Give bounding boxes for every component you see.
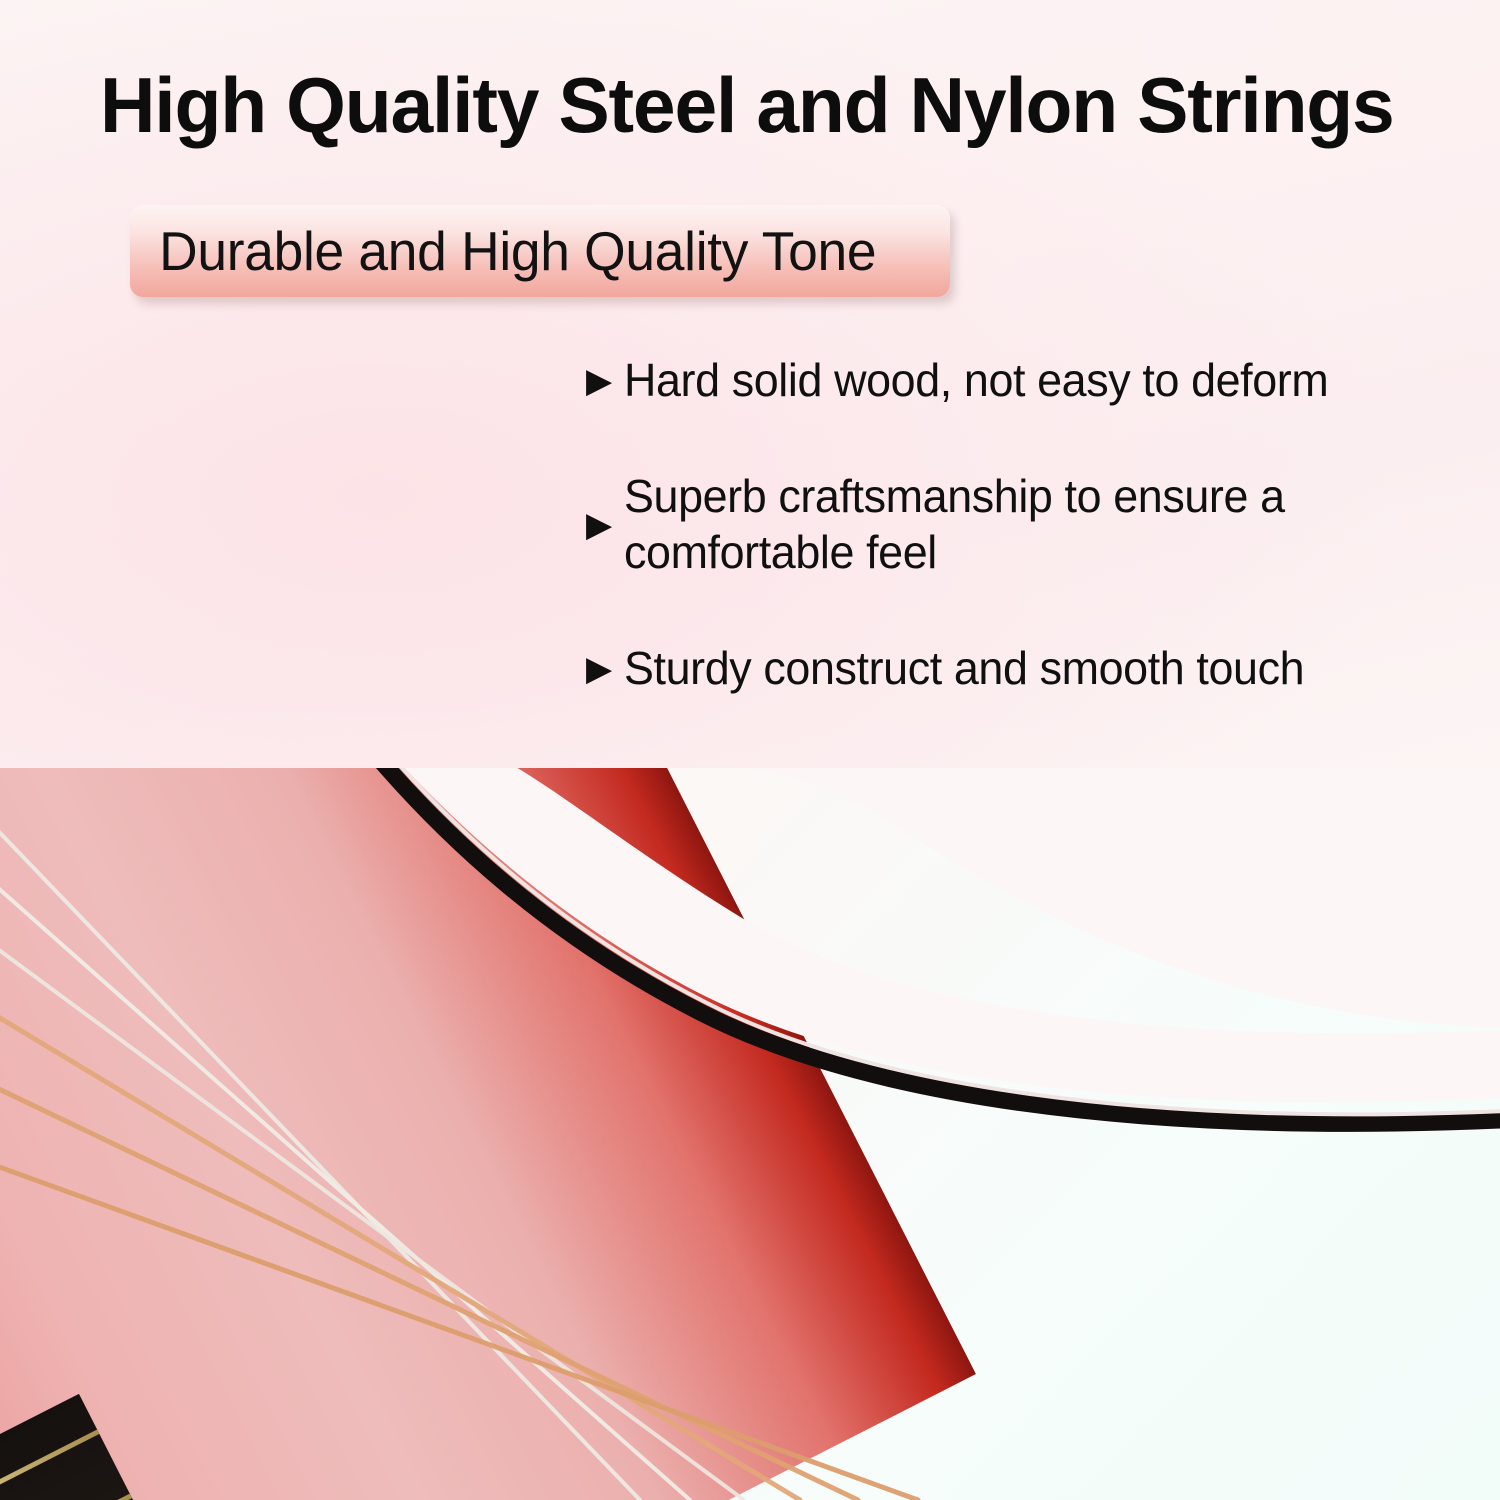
triangle-bullet-icon: ▶ — [586, 508, 616, 542]
triangle-bullet-icon: ▶ — [586, 652, 616, 686]
guitar-strings — [0, 768, 1500, 1500]
status-badge: Durable and High Quality Tone — [130, 205, 950, 297]
product-photo: ∿ alldermusic.com — [0, 768, 1500, 1500]
list-item: ▶ Hard solid wood, not easy to deform — [586, 352, 1476, 408]
feature-list: ▶ Hard solid wood, not easy to deform ▶ … — [586, 352, 1476, 696]
list-item-label: Sturdy construct and smooth touch — [624, 640, 1304, 696]
page-title: High Quality Steel and Nylon Strings — [100, 66, 1469, 144]
product-feature-card: High Quality Steel and Nylon Strings Dur… — [0, 0, 1500, 1500]
copy-panel: High Quality Steel and Nylon Strings Dur… — [0, 0, 1500, 800]
badge-label: Durable and High Quality Tone — [130, 219, 876, 283]
list-item: ▶ Superb craftsmanship to ensure a comfo… — [586, 468, 1476, 580]
list-item-label: Hard solid wood, not easy to deform — [624, 352, 1328, 408]
list-item: ▶ Sturdy construct and smooth touch — [586, 640, 1476, 696]
triangle-bullet-icon: ▶ — [586, 364, 616, 398]
list-item-label: Superb craftsmanship to ensure a comfort… — [624, 468, 1424, 580]
